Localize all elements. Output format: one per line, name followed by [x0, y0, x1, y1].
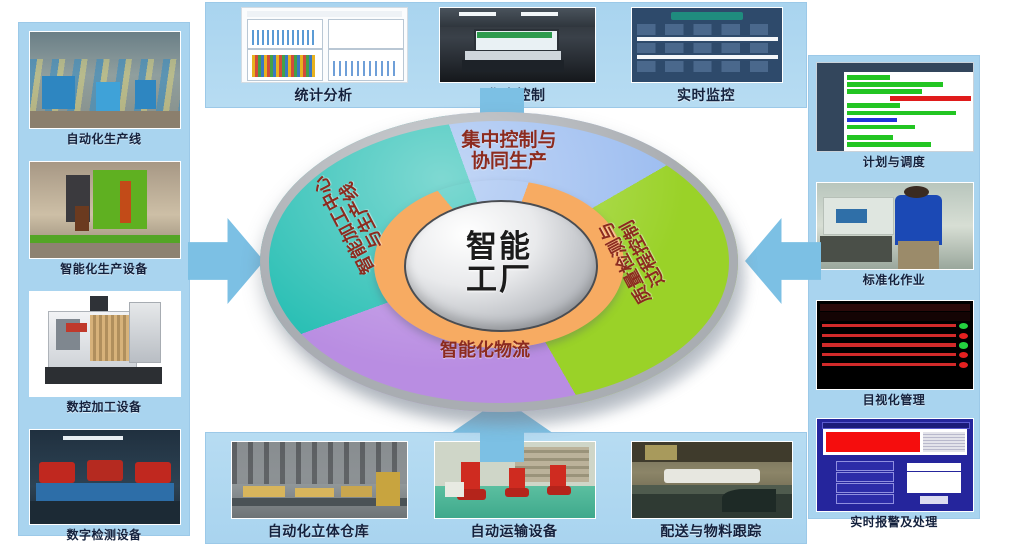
monitoring-board	[631, 7, 783, 83]
production-line-photo	[29, 31, 181, 129]
list-item-label: 标准化作业	[816, 272, 972, 288]
list-item-label: 实时报警及处理	[816, 514, 972, 530]
list-item-label: 目视化管理	[816, 392, 972, 408]
control-room-photo	[439, 7, 596, 83]
center-label-line1: 智能	[466, 231, 532, 264]
cnc-machine-photo	[29, 291, 181, 397]
list-item[interactable]: 实时监控	[631, 7, 781, 105]
list-item-label: 数控加工设备	[29, 399, 179, 415]
list-item[interactable]: 数字检测设备	[29, 429, 179, 551]
list-item[interactable]: 计划与调度	[816, 62, 972, 174]
robot-welding-photo	[29, 161, 181, 259]
list-item[interactable]: 统计分析	[241, 7, 406, 105]
list-item-label: 实时监控	[631, 86, 781, 104]
list-item[interactable]: 自动化生产线	[29, 31, 179, 153]
segment-label-top[interactable]: 集中控制与协同生产	[404, 130, 614, 173]
charts-dashboard	[241, 7, 408, 83]
worker-photo	[816, 182, 974, 270]
smart-factory-wheel: 智能 工厂 集中控制与协同生产 质量检测与过程控制 智能化物流 智能加工中心与生…	[252, 108, 764, 438]
diagram-canvas: 自动化生产线 智能化生产设备	[0, 0, 1024, 547]
conveyor-photo	[631, 441, 793, 519]
list-item[interactable]: 配送与物料跟踪	[631, 441, 791, 541]
list-item[interactable]: 智能化生产设备	[29, 161, 179, 283]
alarm-screen	[816, 418, 974, 512]
list-item-label: 数字检测设备	[29, 527, 179, 543]
center-label: 智能 工厂	[404, 200, 594, 328]
list-item-label: 配送与物料跟踪	[631, 522, 791, 540]
list-item[interactable]: 标准化作业	[816, 182, 972, 292]
list-item[interactable]: 数控加工设备	[29, 291, 179, 421]
segment-label-bottom[interactable]: 智能化物流	[370, 340, 600, 360]
asrs-photo	[231, 441, 408, 519]
center-label-line2: 工厂	[466, 264, 532, 297]
right-panel: 计划与调度 标准化作业	[808, 55, 980, 519]
list-item-label: 智能化生产设备	[29, 261, 179, 277]
left-panel: 自动化生产线 智能化生产设备	[18, 22, 190, 536]
gantt-schedule	[816, 62, 974, 152]
list-item[interactable]: 自动化立体仓库	[231, 441, 406, 541]
list-item-label: 自动运输设备	[434, 522, 594, 540]
list-item[interactable]: 实时报警及处理	[816, 418, 972, 534]
list-item-label: 自动化立体仓库	[231, 522, 406, 540]
list-item-label: 自动化生产线	[29, 131, 179, 147]
list-item-label: 统计分析	[241, 86, 406, 104]
andon-board	[816, 300, 974, 390]
inspection-line-photo	[29, 429, 181, 525]
list-item-label: 计划与调度	[816, 154, 972, 170]
list-item[interactable]: 目视化管理	[816, 300, 972, 412]
